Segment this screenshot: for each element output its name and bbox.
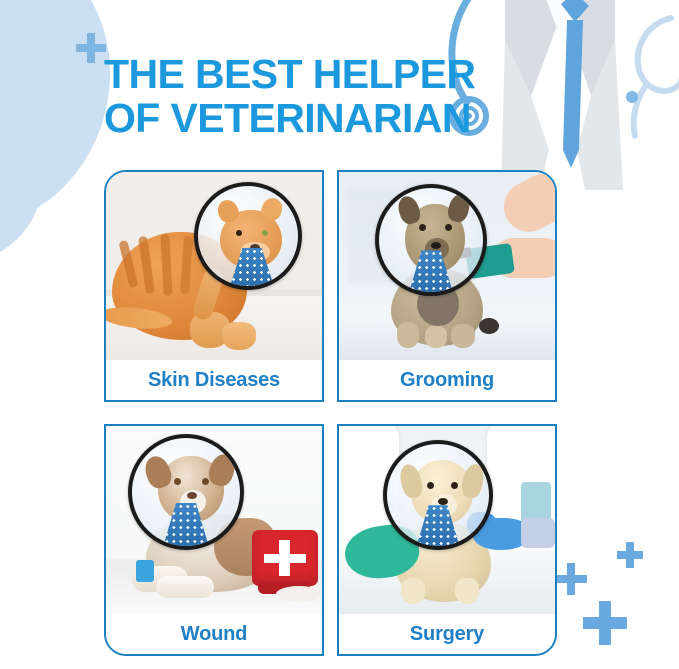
product-infographic-poster: THE BEST HELPER OF VETERINARIAN: [0, 0, 679, 669]
card-photo-wound: [106, 426, 322, 614]
card-label-wound: Wound: [106, 614, 322, 654]
plus-icon: [76, 33, 106, 63]
plus-icon: [617, 542, 643, 568]
feature-card-skin-diseases[interactable]: Skin Diseases: [104, 170, 324, 402]
card-label-surgery: Surgery: [339, 614, 555, 654]
feature-card-wound[interactable]: Wound: [104, 424, 324, 656]
card-photo-skin-diseases: [106, 172, 322, 360]
paw-bandage: [136, 560, 154, 582]
card-photo-surgery: [339, 426, 555, 614]
title-line-2: OF VETERINARIAN: [104, 96, 524, 140]
first-aid-kit: [252, 530, 318, 586]
card-label-skin-diseases: Skin Diseases: [106, 360, 322, 400]
page-title: THE BEST HELPER OF VETERINARIAN: [104, 52, 524, 141]
feature-card-grooming[interactable]: Grooming: [337, 170, 557, 402]
feature-card-surgery[interactable]: Surgery: [337, 424, 557, 656]
medical-cross-icon: [252, 530, 318, 586]
card-label-grooming: Grooming: [339, 360, 555, 400]
plus-icon: [583, 601, 627, 645]
recovery-cone-collar: [375, 184, 487, 296]
recovery-cone-collar: [128, 434, 244, 550]
title-line-1: THE BEST HELPER: [104, 52, 524, 96]
recovery-cone-collar: [383, 440, 493, 550]
card-photo-grooming: [339, 172, 555, 360]
recovery-cone-collar: [194, 182, 302, 290]
feature-card-grid: Skin Diseases: [104, 170, 576, 656]
